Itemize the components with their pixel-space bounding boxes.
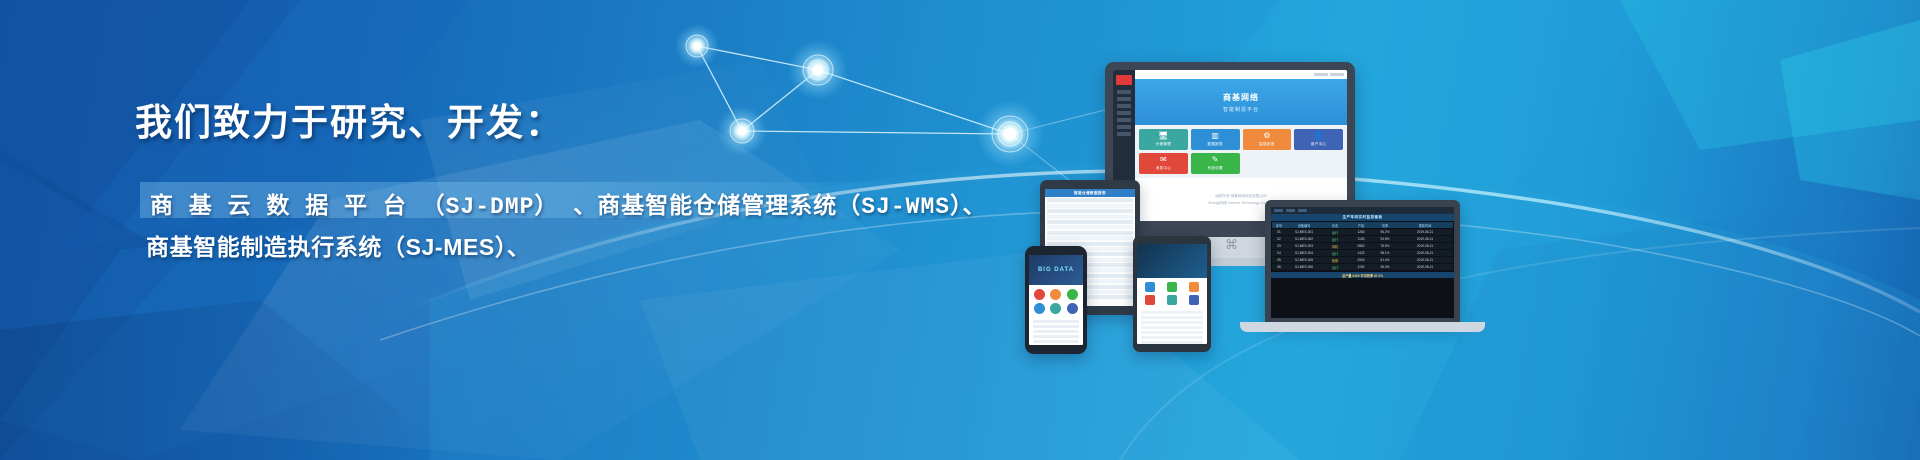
- phone-app-icon[interactable]: [1050, 303, 1061, 314]
- cell-eff: 96.2%: [1374, 230, 1396, 234]
- tablet-left-header: 智能仓储数据报表: [1045, 189, 1135, 197]
- laptop-toolbar: [1271, 207, 1454, 214]
- column-header: 设备编号: [1287, 223, 1321, 228]
- cell-qty: 1432: [1349, 251, 1373, 255]
- column-header: 状态: [1322, 223, 1348, 228]
- column-header: 产量: [1349, 223, 1373, 228]
- tablet-left-title: 智能仓储数据报表: [1074, 191, 1106, 196]
- table-row: [1047, 220, 1133, 224]
- table-row: [1047, 236, 1133, 240]
- cell-no: 04: [1272, 251, 1286, 255]
- tile-label: 用户中心: [1311, 142, 1327, 147]
- laptop-mockup: 生产车间实时监控看板 序号 设备编号 状态 产量 效率 更新时间 01 SJ-M…: [1265, 200, 1460, 325]
- sidebar-item-warehouse[interactable]: [1117, 104, 1131, 108]
- list-item: [1033, 340, 1079, 343]
- phone-screen: BIG DATA: [1029, 255, 1083, 345]
- tablet-app-icon[interactable]: [1167, 295, 1177, 305]
- cell-device: SJ-MES-005: [1287, 258, 1321, 262]
- cell-time: 2019-08-21: [1397, 237, 1453, 241]
- tablet-app-icon[interactable]: [1189, 295, 1199, 305]
- tablet-right-mockup: [1133, 236, 1211, 352]
- phone-app-icon[interactable]: [1034, 289, 1045, 300]
- imac-hero-title: 商基网络: [1223, 92, 1259, 103]
- tile-label: 消息中心: [1156, 166, 1172, 171]
- filter-icon[interactable]: [1286, 209, 1295, 211]
- tile-label: 智能制造: [1259, 142, 1275, 147]
- imac-footer-line1: 版权所有 商基网络科技有限公司: [1215, 194, 1266, 199]
- cell-device: SJ-MES-003: [1287, 244, 1321, 248]
- cell-qty: 0540: [1349, 258, 1373, 262]
- monitor-icon: 🖥: [1158, 132, 1168, 140]
- sidebar-item-production[interactable]: [1117, 111, 1131, 115]
- table-header-row: 序号 设备编号 状态 产量 效率 更新时间: [1272, 222, 1453, 228]
- refresh-icon[interactable]: [1298, 209, 1307, 211]
- tablet-right-icon-grid: [1137, 278, 1207, 309]
- imac-tile-grid: 🖥 仓储管理 ▥ 数据报表 ⚙ 智能制造 👤: [1135, 125, 1347, 178]
- tile-setting[interactable]: ✎ 系统设置: [1191, 153, 1240, 174]
- table-row: [1047, 204, 1133, 208]
- cell-time: 2019-08-21: [1397, 258, 1453, 262]
- tile-label: 数据报表: [1207, 142, 1223, 147]
- user-menu[interactable]: [1330, 73, 1344, 76]
- table-row: 03 SJ-MES-003 待机 0862 78.5% 2019-08-21: [1272, 243, 1453, 249]
- dashboard-title-text: 生产车间实时监控看板: [1343, 215, 1383, 220]
- list-item: [1033, 320, 1079, 323]
- table-row: [1047, 242, 1133, 246]
- cell-time: 2019-08-21: [1397, 251, 1453, 255]
- list-item: [1141, 326, 1203, 329]
- table-row: [1047, 209, 1133, 213]
- cell-no: 05: [1272, 258, 1286, 262]
- phone-hero: BIG DATA: [1029, 255, 1083, 285]
- device-mockup-cluster: 商基网络 智能制造平台 🖥 仓储管理 ▥ 数据报表 ⚙: [1000, 0, 1920, 460]
- laptop-base: [1240, 322, 1485, 332]
- imac-hero-subtitle: 智能制造平台: [1223, 106, 1259, 113]
- mail-icon: ✉: [1160, 156, 1167, 164]
- imac-hero: 商基网络 智能制造平台: [1135, 79, 1347, 125]
- list-item: [1141, 341, 1203, 344]
- cell-qty: 1280: [1349, 230, 1373, 234]
- phone-hero-title: BIG DATA: [1038, 267, 1074, 273]
- cell-no: 01: [1272, 230, 1286, 234]
- column-header: 效率: [1374, 223, 1396, 228]
- search-input[interactable]: [1314, 73, 1328, 76]
- table-row: 01 SJ-MES-001 运行 1280 96.2% 2019-08-21: [1272, 229, 1453, 235]
- cell-device: SJ-MES-004: [1287, 251, 1321, 255]
- cell-device: SJ-MES-001: [1287, 230, 1321, 234]
- cell-status: 运行: [1322, 230, 1348, 235]
- cell-eff: 95.0%: [1374, 265, 1396, 269]
- table-row: 04 SJ-MES-004 运行 1432 98.1% 2019-08-21: [1272, 250, 1453, 256]
- cell-device: SJ-MES-002: [1287, 237, 1321, 241]
- table-row: [1047, 225, 1133, 229]
- list-item: [1141, 321, 1203, 324]
- product-line-2: 商基智能制造执行系统（SJ-MES）、: [146, 228, 531, 262]
- table-row: 02 SJ-MES-002 运行 1105 93.8% 2019-08-21: [1272, 236, 1453, 242]
- table-row: [1047, 215, 1133, 219]
- cell-eff: 98.1%: [1374, 251, 1396, 255]
- column-header: 序号: [1272, 223, 1286, 228]
- sidebar-item-report[interactable]: [1117, 125, 1131, 129]
- apple-logo-icon: ⌘: [1225, 238, 1237, 252]
- cell-status: 运行: [1322, 265, 1348, 270]
- hero-banner: 我们致力于研究、开发： 商 基 云 数 据 平 台 （SJ-DMP） 、商基智能…: [0, 0, 1920, 460]
- tablet-app-icon[interactable]: [1145, 282, 1155, 292]
- tablet-app-icon[interactable]: [1167, 282, 1177, 292]
- cell-eff: 93.8%: [1374, 237, 1396, 241]
- sidebar-item-data[interactable]: [1117, 97, 1131, 101]
- phone-app-icon[interactable]: [1034, 303, 1045, 314]
- cell-qty: 1190: [1349, 265, 1373, 269]
- cell-time: 2019-08-21: [1397, 244, 1453, 248]
- page-title: 我们致力于研究、开发：: [135, 92, 564, 146]
- sidebar-item-settings[interactable]: [1117, 132, 1131, 136]
- table-row: 06 SJ-MES-006 运行 1190 95.0% 2019-08-21: [1272, 264, 1453, 270]
- list-item: [1141, 316, 1203, 319]
- cell-status: 待机: [1322, 244, 1348, 249]
- cell-time: 2019-08-21: [1397, 265, 1453, 269]
- phone-icon-grid: [1029, 285, 1083, 318]
- imac-topbar: [1135, 70, 1347, 79]
- table-row: [1047, 231, 1133, 235]
- chart-icon: ▥: [1211, 132, 1219, 140]
- laptop-summary-text: 总产量 6409 平均效率 87.2%: [1342, 273, 1383, 278]
- table-row: 05 SJ-MES-005 检修 0540 61.4% 2019-08-21: [1272, 257, 1453, 263]
- product-line-1: 商 基 云 数 据 平 台 （SJ-DMP） 、商基智能仓储管理系统（SJ-WM…: [150, 186, 987, 220]
- edit-icon: ✎: [1212, 156, 1219, 164]
- table-row: [1047, 198, 1133, 202]
- list-item: [1141, 336, 1203, 339]
- column-header: 更新时间: [1397, 223, 1453, 228]
- phone-app-icon[interactable]: [1050, 289, 1061, 300]
- tablet-app-icon[interactable]: [1145, 295, 1155, 305]
- cell-device: SJ-MES-006: [1287, 265, 1321, 269]
- gear-icon: ⚙: [1263, 132, 1270, 140]
- list-item: [1033, 325, 1079, 328]
- tablet-right-hero: [1137, 244, 1207, 278]
- tile-label: 仓储管理: [1156, 142, 1172, 147]
- tile-warehouse[interactable]: 🖥 仓储管理: [1139, 129, 1188, 150]
- tile-mes[interactable]: ⚙ 智能制造: [1243, 129, 1292, 150]
- cell-status: 检修: [1322, 258, 1348, 263]
- cell-status: 运行: [1322, 251, 1348, 256]
- phone-app-icon[interactable]: [1067, 303, 1078, 314]
- sidebar-item-home[interactable]: [1117, 90, 1131, 94]
- cell-time: 2019-08-21: [1397, 230, 1453, 234]
- list-item: [1141, 311, 1203, 314]
- menu-icon[interactable]: [1274, 209, 1283, 211]
- sj-logo-icon: [1116, 75, 1132, 85]
- phone-app-icon[interactable]: [1067, 289, 1078, 300]
- cell-qty: 0862: [1349, 244, 1373, 248]
- list-item: [1141, 331, 1203, 334]
- phone-mockup: BIG DATA: [1025, 246, 1087, 354]
- cell-qty: 1105: [1349, 237, 1373, 241]
- tile-message[interactable]: ✉ 消息中心: [1139, 153, 1188, 174]
- cell-no: 06: [1272, 265, 1286, 269]
- imac-screen: 商基网络 智能制造平台 🖥 仓储管理 ▥ 数据报表 ⚙: [1113, 70, 1347, 221]
- imac-main: 商基网络 智能制造平台 🖥 仓储管理 ▥ 数据报表 ⚙: [1135, 70, 1347, 221]
- tablet-app-icon[interactable]: [1189, 282, 1199, 292]
- cell-eff: 61.4%: [1374, 258, 1396, 262]
- list-item: [1033, 335, 1079, 338]
- cell-no: 02: [1272, 237, 1286, 241]
- tile-user[interactable]: 👤 用户中心: [1294, 129, 1343, 150]
- cell-eff: 78.5%: [1374, 244, 1396, 248]
- tile-report[interactable]: ▥ 数据报表: [1191, 129, 1240, 150]
- tablet-right-screen: [1137, 244, 1207, 344]
- user-icon: 👤: [1314, 132, 1324, 140]
- sidebar-item-equipment[interactable]: [1117, 118, 1131, 122]
- cell-no: 03: [1272, 244, 1286, 248]
- tile-label: 系统设置: [1207, 166, 1223, 171]
- list-item: [1033, 330, 1079, 333]
- cell-status: 运行: [1322, 237, 1348, 242]
- banner-text-block: 我们致力于研究、开发： 商 基 云 数 据 平 台 （SJ-DMP） 、商基智能…: [0, 0, 980, 460]
- laptop-screen: 生产车间实时监控看板 序号 设备编号 状态 产量 效率 更新时间 01 SJ-M…: [1271, 207, 1454, 318]
- laptop-summary-bar: 总产量 6409 平均效率 87.2%: [1271, 272, 1454, 278]
- laptop-data-table: 序号 设备编号 状态 产量 效率 更新时间 01 SJ-MES-001 运行 1…: [1271, 221, 1454, 272]
- laptop-dashboard-title: 生产车间实时监控看板: [1271, 214, 1454, 221]
